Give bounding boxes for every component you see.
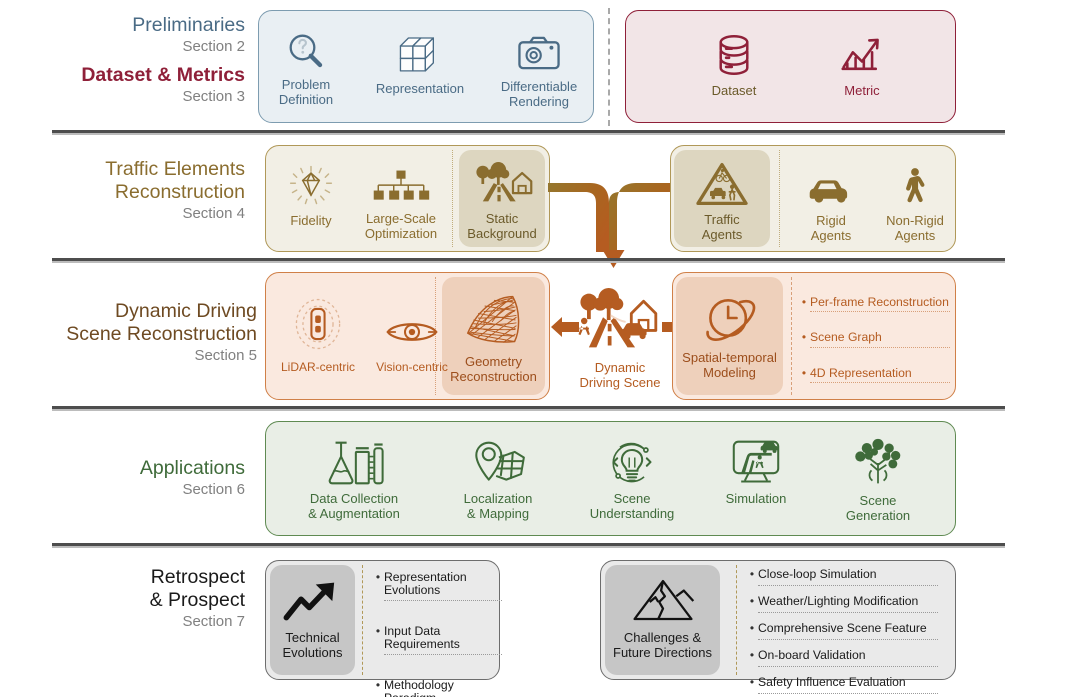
lightbulb-code-icon <box>604 438 660 488</box>
row-title-applications-section: Section 6 <box>40 481 245 499</box>
cell-non-rigid-agents-label: Non-Rigid Agents <box>886 213 944 244</box>
challenges-bullet-list: • Close-loop Simulation • Weather/Lighti… <box>746 568 946 689</box>
bullet-text: 4D Representation <box>810 367 912 380</box>
divider-3 <box>52 406 1005 411</box>
bullet-dot: • <box>746 622 758 635</box>
cell-data-collection-augmentation[interactable]: Data Collection & Augmentation <box>278 426 430 532</box>
tree-network-icon <box>848 436 908 490</box>
cell-fidelity[interactable]: Fidelity <box>272 150 350 248</box>
traffic-left-dotted-separator <box>452 150 453 247</box>
challenges-dashed-separator <box>736 565 737 675</box>
cell-geometry-reconstruction[interactable]: Geometry Reconstruction <box>442 277 545 395</box>
cell-challenges-future-directions-label: Challenges & Future Directions <box>613 630 712 661</box>
row-title-preliminaries: Preliminaries Section 2 <box>40 14 245 56</box>
bullet-text: Weather/Lighting Modification <box>758 595 918 608</box>
bullet-dot: • <box>798 367 810 380</box>
cell-rigid-agents[interactable]: Rigid Agents <box>790 150 872 248</box>
mesh-surface-icon <box>458 289 530 351</box>
database-icon <box>712 30 756 80</box>
row-title-retrospect-section: Section 7 <box>40 613 245 631</box>
row-title-retrospect: Retrospect & Prospect Section 7 <box>40 566 245 631</box>
row-title-dataset-metrics-main: Dataset & Metrics <box>20 64 245 87</box>
cell-static-background[interactable]: Static Background <box>459 150 545 248</box>
bullet-text: Per-frame Reconstruction <box>810 296 949 309</box>
bullet-text: Close-loop Simulation <box>758 568 877 581</box>
bullet-dot: • <box>372 679 384 692</box>
eye-icon <box>384 307 440 357</box>
cell-data-collection-augmentation-label: Data Collection & Augmentation <box>308 491 400 522</box>
list-item[interactable]: • Weather/Lighting Modification <box>746 595 946 608</box>
cell-spatial-temporal-modeling-label: Spatial-temporal Modeling <box>682 350 777 381</box>
cell-scene-understanding[interactable]: Scene Understanding <box>566 426 698 532</box>
cell-technical-evolutions[interactable]: Technical Evolutions <box>270 565 355 675</box>
row-title-applications: Applications Section 6 <box>40 457 245 499</box>
cell-localization-mapping-label: Localization & Mapping <box>464 491 533 522</box>
bullet-dot: • <box>746 649 758 662</box>
cell-localization-mapping[interactable]: Localization & Mapping <box>434 426 562 532</box>
traffic-right-dotted-separator <box>779 150 780 247</box>
bullet-rule <box>810 382 950 383</box>
bullet-rule <box>758 666 938 667</box>
bullet-dot: • <box>746 595 758 608</box>
list-item[interactable]: • Per-frame Reconstruction <box>798 296 950 309</box>
lidar-car-waves-icon <box>286 291 350 357</box>
mountain-icon <box>627 575 699 627</box>
row1-dashed-separator <box>608 8 610 126</box>
magnifier-question-icon <box>285 28 327 74</box>
cell-lidar-centric[interactable]: LiDAR-centric <box>272 277 364 395</box>
bullet-text: On-board Validation <box>758 649 866 662</box>
cell-fidelity-label: Fidelity <box>290 213 331 228</box>
list-item[interactable]: • Methodology Paradigm <box>372 679 497 697</box>
cell-static-background-label: Static Background <box>467 211 536 242</box>
landscape-road-house-icon <box>470 160 534 208</box>
divider-4 <box>52 543 1005 548</box>
row-title-dynamic-driving: Dynamic Driving Scene Reconstruction Sec… <box>10 300 257 365</box>
bullet-dot: • <box>746 676 758 689</box>
cell-scene-understanding-label: Scene Understanding <box>590 491 675 522</box>
bullet-rule <box>384 654 502 655</box>
dynamic-driving-scene-icon <box>571 283 669 358</box>
cell-scene-generation-label: Scene Generation <box>846 493 910 524</box>
traffic-warning-sign-icon <box>694 159 750 209</box>
row-title-applications-main: Applications <box>40 457 245 480</box>
map-pin-icon <box>468 438 528 488</box>
cell-representation[interactable]: Representation <box>360 14 480 119</box>
bullet-rule <box>758 693 938 694</box>
cell-challenges-future-directions[interactable]: Challenges & Future Directions <box>605 565 720 675</box>
list-item[interactable]: • Comprehensive Scene Feature <box>746 622 946 635</box>
voxel-cube-icon <box>393 30 447 78</box>
row-title-traffic-elements-section: Section 4 <box>25 205 245 223</box>
row-title-preliminaries-main: Preliminaries <box>40 14 245 37</box>
cell-dataset-label: Dataset <box>712 83 757 98</box>
row-title-traffic-elements-main: Traffic Elements Reconstruction <box>25 158 245 204</box>
bullet-rule <box>810 311 950 312</box>
cell-differentiable-rendering[interactable]: Differentiable Rendering <box>488 14 590 119</box>
cell-metric[interactable]: Metric <box>810 16 914 116</box>
bullet-dot: • <box>798 296 810 309</box>
row-title-dynamic-driving-main: Dynamic Driving Scene Reconstruction <box>10 300 257 346</box>
bullet-rule <box>758 612 938 613</box>
bullet-text: Comprehensive Scene Feature <box>758 622 927 635</box>
list-item[interactable]: • On-board Validation <box>746 649 946 662</box>
cell-simulation-label: Simulation <box>726 491 787 506</box>
cell-large-scale-optimization-label: Large-Scale Optimization <box>365 211 437 242</box>
bullet-dot: • <box>746 568 758 581</box>
cell-dynamic-driving-scene: Dynamic Driving Scene <box>565 275 675 397</box>
bullet-text: Representation Evolutions <box>384 571 497 598</box>
cell-metric-label: Metric <box>844 83 879 98</box>
row-title-dataset-metrics: Dataset & Metrics Section 3 <box>20 64 245 106</box>
technical-evolutions-dashed-separator <box>362 565 363 675</box>
bullet-text: Safety Influence Evaluation <box>758 676 906 689</box>
trend-arrow-icon <box>282 577 344 627</box>
taxonomy-diagram: Preliminaries Section 2 Dataset & Metric… <box>0 0 1080 697</box>
dynamic-bullet-list: • Per-frame Reconstruction • Scene Graph… <box>798 296 950 380</box>
diamond-shine-icon <box>285 162 337 210</box>
list-item[interactable]: • Scene Graph <box>798 331 950 344</box>
list-item[interactable]: • Representation Evolutions <box>372 571 497 598</box>
pedestrian-icon <box>900 164 930 210</box>
car-icon <box>806 170 856 210</box>
cell-spatial-temporal-modeling[interactable]: Spatial-temporal Modeling <box>676 277 783 395</box>
cell-problem-definition[interactable]: Problem Definition <box>262 14 350 119</box>
cell-scene-generation[interactable]: Scene Generation <box>816 426 940 532</box>
divider-1 <box>52 130 1005 135</box>
clock-orbit-icon <box>699 289 761 347</box>
cell-large-scale-optimization[interactable]: Large-Scale Optimization <box>352 150 450 248</box>
camera-icon <box>515 30 563 76</box>
bullet-dot: • <box>798 331 810 344</box>
cell-technical-evolutions-label: Technical Evolutions <box>283 630 343 661</box>
row-title-dataset-metrics-section: Section 3 <box>20 88 245 106</box>
list-item[interactable]: • 4D Representation <box>798 367 950 380</box>
bullet-text: Scene Graph <box>810 331 882 344</box>
bullet-dot: • <box>372 571 384 584</box>
technical-evolutions-bullet-list: • Representation Evolutions • Input Data… <box>372 571 497 697</box>
cell-dynamic-driving-scene-label: Dynamic Driving Scene <box>580 360 661 391</box>
row-title-dynamic-driving-section: Section 5 <box>10 347 257 365</box>
list-item[interactable]: • Input Data Requirements <box>372 625 497 652</box>
dynamic-right-dashed-separator <box>791 277 792 395</box>
divider-2 <box>52 258 1005 263</box>
bullet-text: Input Data Requirements <box>384 625 497 652</box>
cell-vision-centric-label: Vision-centric <box>376 360 448 374</box>
cell-rigid-agents-label: Rigid Agents <box>811 213 851 244</box>
bullet-rule <box>384 600 502 601</box>
cell-differentiable-rendering-label: Differentiable Rendering <box>501 79 577 110</box>
cell-traffic-agents-label: Traffic Agents <box>702 212 742 243</box>
row-title-traffic-elements: Traffic Elements Reconstruction Section … <box>25 158 245 223</box>
bar-chart-arrow-icon <box>838 32 886 80</box>
cell-representation-label: Representation <box>376 81 464 96</box>
cell-traffic-agents[interactable]: Traffic Agents <box>674 150 770 248</box>
cell-dataset[interactable]: Dataset <box>682 16 786 116</box>
cell-geometry-reconstruction-label: Geometry Reconstruction <box>450 354 537 385</box>
bullet-text: Methodology Paradigm <box>384 679 497 697</box>
list-item[interactable]: • Safety Influence Evaluation <box>746 676 946 689</box>
row-title-preliminaries-section: Section 2 <box>40 38 245 56</box>
bullet-dot: • <box>372 625 384 638</box>
monitor-road-icon <box>728 438 784 488</box>
bullet-rule <box>758 639 938 640</box>
cell-simulation[interactable]: Simulation <box>700 426 812 532</box>
cell-lidar-centric-label: LiDAR-centric <box>281 360 355 374</box>
row-title-retrospect-main: Retrospect & Prospect <box>40 566 245 612</box>
cell-non-rigid-agents[interactable]: Non-Rigid Agents <box>876 150 954 248</box>
flask-testtube-icon <box>322 438 386 488</box>
list-item[interactable]: • Close-loop Simulation <box>746 568 946 581</box>
hierarchy-tree-icon <box>371 164 431 208</box>
bullet-rule <box>758 585 938 586</box>
bullet-rule <box>810 347 950 348</box>
cell-problem-definition-label: Problem Definition <box>279 77 333 108</box>
